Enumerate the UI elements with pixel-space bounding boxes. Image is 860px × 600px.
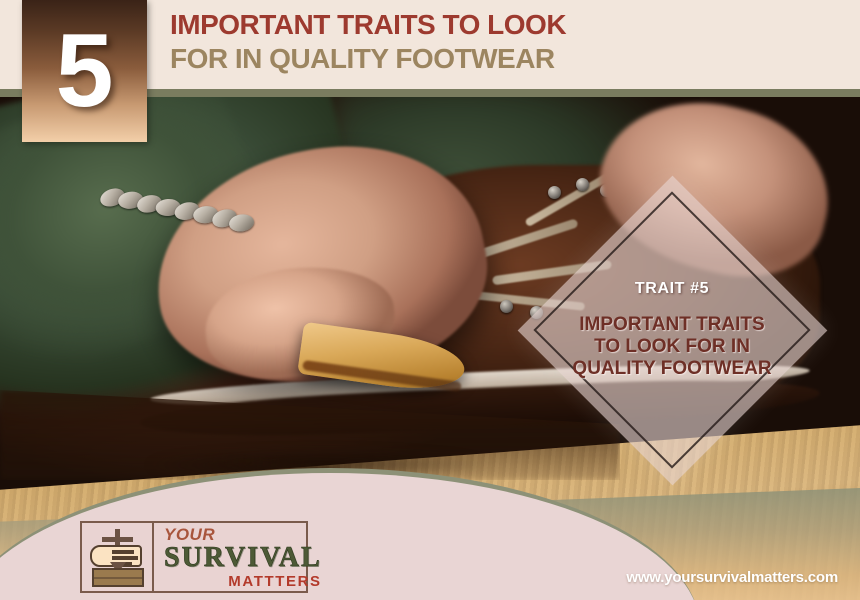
ground-shape <box>92 568 144 587</box>
trait-diamond-badge: TRAIT #5 IMPORTANT TRAITS TO LOOK FOR IN… <box>517 175 827 485</box>
brand-word-matters: MATTTERS <box>228 574 321 590</box>
number-badge-value: 5 <box>22 19 147 123</box>
page-title-line1: IMPORTANT TRAITS TO LOOK <box>170 8 566 42</box>
diamond-badge-text: TRAIT #5 IMPORTANT TRAITS TO LOOK FOR IN… <box>517 175 827 485</box>
number-badge: 5 <box>22 0 147 142</box>
photo-eyelet-7 <box>500 300 513 313</box>
brand-word-survival: SURVIVAL <box>164 544 322 572</box>
diamond-badge-title: IMPORTANT TRAITS TO LOOK FOR IN QUALITY … <box>565 314 780 380</box>
finger-line-1 <box>112 550 134 554</box>
diamond-badge-kicker: TRAIT #5 <box>635 280 709 298</box>
brand-wordmark: YOUR SURVIVAL MATTTERS <box>154 523 330 591</box>
page-title: IMPORTANT TRAITS TO LOOK FOR IN QUALITY … <box>170 8 566 76</box>
hand-driving-stake-icon <box>82 523 154 591</box>
brand-logo[interactable]: YOUR SURVIVAL MATTTERS <box>80 521 308 593</box>
page-title-line2: FOR IN QUALITY FOOTWEAR <box>170 42 566 76</box>
finger-line-2 <box>112 556 138 560</box>
poster-root: 5 IMPORTANT TRAITS TO LOOK FOR IN QUALIT… <box>0 0 860 600</box>
stake-handle-shape <box>102 537 133 542</box>
website-url[interactable]: www.yoursurvivalmatters.com <box>626 569 838 586</box>
